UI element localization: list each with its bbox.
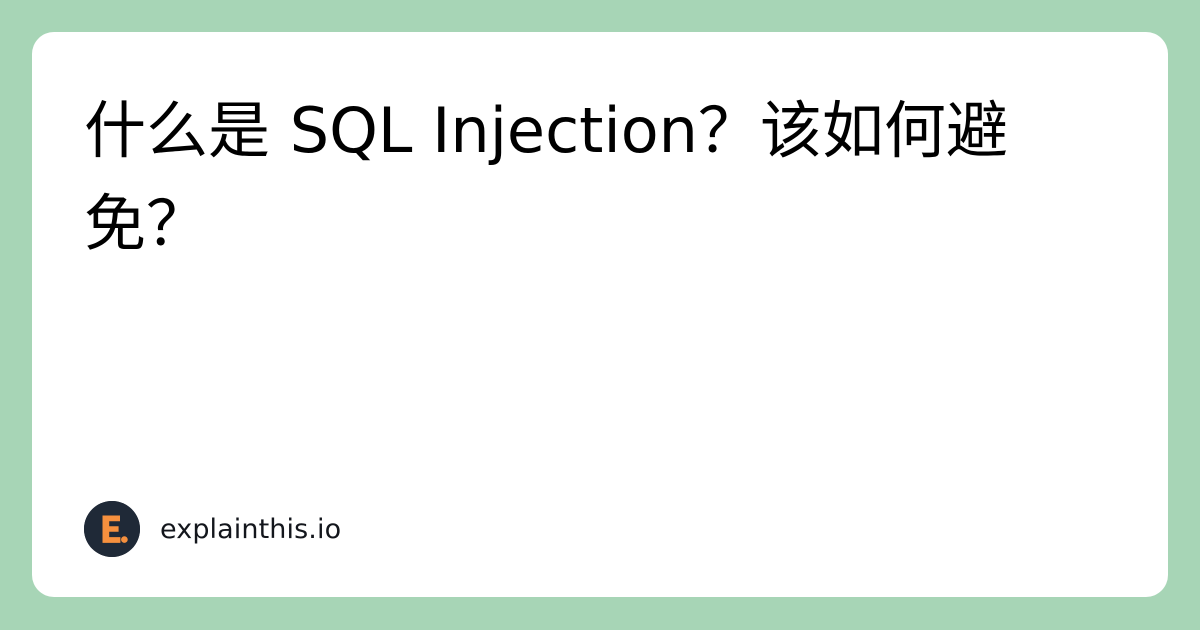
card-inner: 什么是 SQL Injection？该如何避免？ explainthis.io — [84, 84, 1116, 559]
brand-footer: explainthis.io — [84, 501, 1116, 557]
content-card: 什么是 SQL Injection？该如何避免？ explainthis.io — [32, 32, 1168, 597]
og-image-root: 什么是 SQL Injection？该如何避免？ explainthis.io — [0, 0, 1200, 630]
page-title: 什么是 SQL Injection？该如何避免？ — [84, 84, 1084, 270]
brand-name-label: explainthis.io — [160, 516, 341, 543]
explainthis-logo-icon — [84, 501, 140, 557]
